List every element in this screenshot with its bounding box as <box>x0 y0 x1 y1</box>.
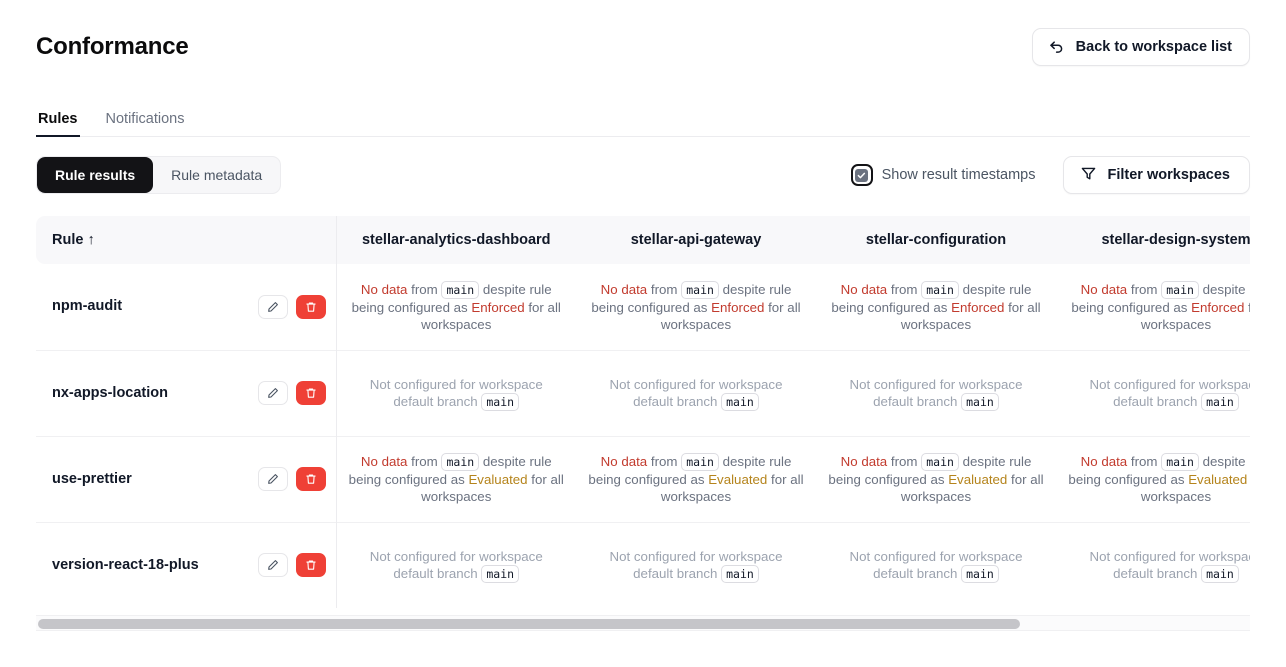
filter-workspaces-button[interactable]: Filter workspaces <box>1063 156 1251 194</box>
branch-chip: main <box>721 393 759 411</box>
result-cell: No data from main despite rule being con… <box>816 436 1056 522</box>
cell-status: No data <box>361 454 408 469</box>
edit-rule-button[interactable] <box>258 553 288 577</box>
pencil-icon <box>267 559 279 571</box>
rules-table: Rule ↑ stellar-analytics-dashboard stell… <box>36 216 1250 608</box>
result-cell: Not configured for workspace default bra… <box>576 350 816 436</box>
rule-name: npm-audit <box>52 298 122 315</box>
table-row: use-prettierNo data from main despite ru… <box>36 436 1250 522</box>
cell-config-mode: Evaluated <box>708 472 767 487</box>
rule-name: version-react-18-plus <box>52 557 199 574</box>
cell-text: from <box>891 282 918 297</box>
result-cell: Not configured for workspace default bra… <box>816 522 1056 608</box>
back-arrow-icon <box>1048 39 1065 56</box>
cell-status: No data <box>601 454 648 469</box>
delete-rule-button[interactable] <box>296 295 326 319</box>
checkbox-focus-ring <box>851 164 873 186</box>
cell-text: from <box>651 282 678 297</box>
result-cell: No data from main despite rule being con… <box>1056 264 1250 350</box>
delete-rule-button[interactable] <box>296 553 326 577</box>
column-header-ws3[interactable]: stellar-configuration <box>816 216 1056 264</box>
cell-text: from <box>891 454 918 469</box>
show-result-timestamps-checkbox[interactable]: Show result timestamps <box>851 164 1036 186</box>
page-title: Conformance <box>36 33 189 61</box>
filter-icon <box>1080 165 1097 186</box>
table-head: Rule ↑ stellar-analytics-dashboard stell… <box>36 216 1250 264</box>
tab-rules[interactable]: Rules <box>36 111 80 137</box>
tab-notifications[interactable]: Notifications <box>104 111 187 137</box>
cell-config-mode: Enforced <box>711 300 764 315</box>
cell-status: No data <box>601 282 648 297</box>
branch-chip: main <box>1161 281 1199 299</box>
result-cell: No data from main despite rule being con… <box>576 436 816 522</box>
rule-cell: nx-apps-location <box>36 350 336 436</box>
trash-icon <box>305 301 317 313</box>
checkbox-box <box>855 169 868 182</box>
delete-rule-button[interactable] <box>296 467 326 491</box>
toolbar: Rule results Rule metadata Show result t… <box>36 156 1250 194</box>
edit-rule-button[interactable] <box>258 381 288 405</box>
table-header-row: Rule ↑ stellar-analytics-dashboard stell… <box>36 216 1250 264</box>
trash-icon <box>305 387 317 399</box>
result-cell: No data from main despite rule being con… <box>336 436 576 522</box>
result-cell: Not configured for workspace default bra… <box>1056 522 1250 608</box>
horizontal-scrollbar-thumb[interactable] <box>38 619 1020 629</box>
branch-chip: main <box>1161 453 1199 471</box>
rule-cell: version-react-18-plus <box>36 522 336 608</box>
back-to-workspace-list-button[interactable]: Back to workspace list <box>1032 28 1250 66</box>
result-cell: No data from main despite rule being con… <box>1056 436 1250 522</box>
table-row: version-react-18-plusNot configured for … <box>36 522 1250 608</box>
check-icon <box>857 171 866 180</box>
branch-chip: main <box>681 281 719 299</box>
branch-chip: main <box>921 281 959 299</box>
branch-chip: main <box>721 565 759 583</box>
result-cell: Not configured for workspace default bra… <box>816 350 1056 436</box>
trash-icon <box>305 473 317 485</box>
checkbox-label: Show result timestamps <box>882 167 1036 183</box>
conformance-page: Conformance Back to workspace list Rules… <box>0 0 1286 667</box>
rule-name: nx-apps-location <box>52 385 168 402</box>
branch-chip: main <box>681 453 719 471</box>
branch-chip: main <box>961 565 999 583</box>
branch-chip: main <box>961 393 999 411</box>
cell-config-mode: Evaluated <box>468 472 527 487</box>
rule-name: use-prettier <box>52 471 132 488</box>
rule-cell: use-prettier <box>36 436 336 522</box>
pencil-icon <box>267 387 279 399</box>
cell-text: from <box>411 454 438 469</box>
column-header-ws1[interactable]: stellar-analytics-dashboard <box>336 216 576 264</box>
rule-actions <box>258 553 326 577</box>
toolbar-right: Show result timestamps Filter workspaces <box>851 156 1250 194</box>
result-cell: Not configured for workspace default bra… <box>1056 350 1250 436</box>
cell-config-mode: Enforced <box>1191 300 1244 315</box>
branch-chip: main <box>921 453 959 471</box>
back-button-label: Back to workspace list <box>1076 39 1232 55</box>
cell-status: No data <box>841 282 888 297</box>
branch-chip: main <box>441 281 479 299</box>
cell-text: from <box>1131 454 1158 469</box>
table-body: npm-auditNo data from main despite rule … <box>36 264 1250 608</box>
edit-rule-button[interactable] <box>258 295 288 319</box>
branch-chip: main <box>441 453 479 471</box>
pencil-icon <box>267 473 279 485</box>
sort-ascending-icon: ↑ <box>87 232 94 248</box>
cell-config-mode: Evaluated <box>1188 472 1247 487</box>
result-cell: Not configured for workspace default bra… <box>336 350 576 436</box>
rule-actions <box>258 467 326 491</box>
cell-config-mode: Enforced <box>471 300 524 315</box>
cell-status: No data <box>361 282 408 297</box>
branch-chip: main <box>1201 565 1239 583</box>
cell-config-mode: Enforced <box>951 300 1004 315</box>
cell-text: from <box>651 454 678 469</box>
column-header-rule[interactable]: Rule ↑ <box>36 216 336 264</box>
cell-status: No data <box>841 454 888 469</box>
pencil-icon <box>267 301 279 313</box>
result-cell: Not configured for workspace default bra… <box>576 522 816 608</box>
result-cell: No data from main despite rule being con… <box>336 264 576 350</box>
rules-table-viewport: Rule ↑ stellar-analytics-dashboard stell… <box>36 216 1250 608</box>
trash-icon <box>305 559 317 571</box>
result-cell: No data from main despite rule being con… <box>816 264 1056 350</box>
view-segmented-control: Rule results Rule metadata <box>36 156 281 194</box>
column-header-rule-label: Rule <box>52 232 83 248</box>
column-header-ws2[interactable]: stellar-api-gateway <box>576 216 816 264</box>
segment-rule-results[interactable]: Rule results <box>37 157 153 193</box>
rule-actions <box>258 295 326 319</box>
branch-chip: main <box>481 565 519 583</box>
cell-text: from <box>411 282 438 297</box>
horizontal-scrollbar[interactable] <box>36 615 1250 631</box>
result-cell: Not configured for workspace default bra… <box>336 522 576 608</box>
cell-status: No data <box>1081 282 1128 297</box>
result-cell: No data from main despite rule being con… <box>576 264 816 350</box>
table-row: npm-auditNo data from main despite rule … <box>36 264 1250 350</box>
delete-rule-button[interactable] <box>296 381 326 405</box>
tab-bar: Rules Notifications <box>36 99 1250 137</box>
rule-cell: npm-audit <box>36 264 336 350</box>
cell-config-mode: Evaluated <box>948 472 1007 487</box>
filter-button-label: Filter workspaces <box>1108 167 1231 183</box>
rule-actions <box>258 381 326 405</box>
cell-status: No data <box>1081 454 1128 469</box>
segment-rule-metadata[interactable]: Rule metadata <box>153 157 280 193</box>
table-row: nx-apps-locationNot configured for works… <box>36 350 1250 436</box>
branch-chip: main <box>481 393 519 411</box>
page-header: Conformance Back to workspace list <box>36 0 1250 78</box>
edit-rule-button[interactable] <box>258 467 288 491</box>
column-header-ws4[interactable]: stellar-design-system <box>1056 216 1250 264</box>
cell-text: from <box>1131 282 1158 297</box>
branch-chip: main <box>1201 393 1239 411</box>
